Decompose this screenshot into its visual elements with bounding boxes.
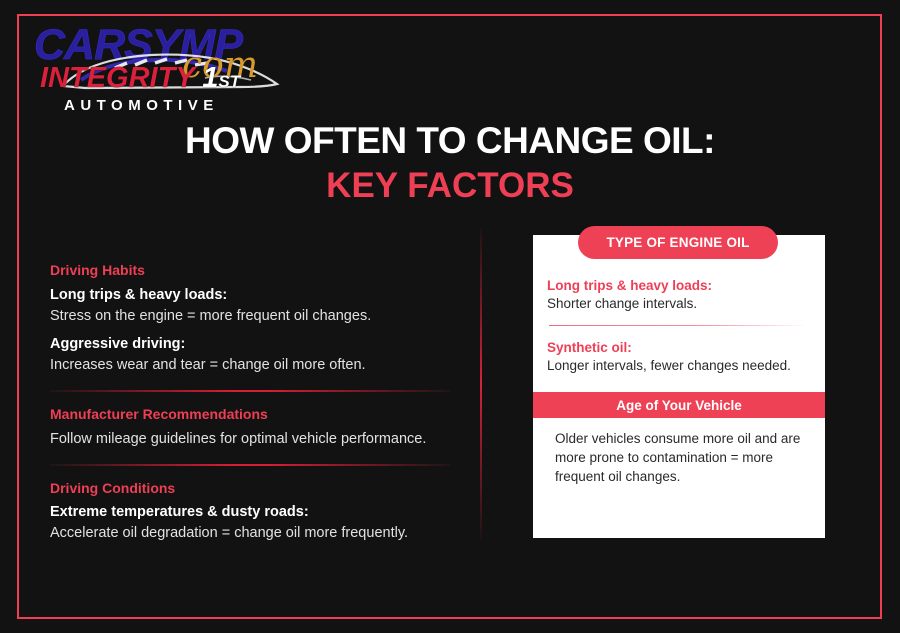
section-driving-habits: Driving Habits Long trips & heavy loads:… (50, 262, 450, 376)
card-divider (549, 325, 805, 326)
section-manufacturer-recommendations: Manufacturer Recommendations Follow mile… (50, 406, 450, 450)
logo-ordinal-number: 1 (202, 62, 218, 94)
headline-subtitle: KEY FACTORS (0, 168, 900, 205)
logo-company-text: INTEGRITY 1ST (40, 64, 240, 93)
column-divider (480, 228, 482, 540)
headline-main: HOW OFTEN TO CHANGE OIL: (0, 122, 900, 161)
item-label: Long trips & heavy loads: (50, 285, 450, 306)
card-entry-heading: Long trips & heavy loads: (547, 277, 811, 295)
card-entry-heading: Synthetic oil: (547, 339, 811, 357)
logo-ordinal: 1ST (194, 62, 240, 94)
left-content-column: Driving Habits Long trips & heavy loads:… (50, 262, 450, 552)
section-heading: Driving Habits (50, 262, 450, 279)
item-label: Aggressive driving: (50, 334, 450, 355)
page-title: HOW OFTEN TO CHANGE OIL: KEY FACTORS (0, 122, 900, 205)
item-label: Extreme temperatures & dusty roads: (50, 502, 450, 523)
brand-logo: CARSYMP com INTEGRITY 1ST AUTOMOTIVE (30, 24, 285, 106)
item-text: Follow mileage guidelines for optimal ve… (50, 429, 450, 450)
logo-ordinal-suffix: ST (218, 72, 240, 91)
section-heading: Driving Conditions (50, 480, 450, 497)
section-driving-conditions: Driving Conditions Extreme temperatures … (50, 480, 450, 545)
age-of-vehicle-band: Age of Your Vehicle (533, 392, 825, 418)
item-text: Stress on the engine = more frequent oil… (50, 306, 450, 327)
type-of-engine-oil-badge: TYPE OF ENGINE OIL (578, 226, 778, 259)
section-heading: Manufacturer Recommendations (50, 406, 450, 423)
infographic-poster: CARSYMP com INTEGRITY 1ST AUTOMOTIVE HOW… (0, 0, 900, 633)
age-of-vehicle-text: Older vehicles consume more oil and are … (555, 430, 803, 487)
section-divider (50, 390, 450, 392)
card-entry-text: Shorter change intervals. (547, 295, 811, 314)
section-divider (50, 464, 450, 466)
engine-oil-card: Long trips & heavy loads: Shorter change… (533, 235, 825, 538)
logo-company-word: INTEGRITY (40, 62, 194, 94)
card-entry-text: Longer intervals, fewer changes needed. (547, 357, 811, 376)
logo-tagline: AUTOMOTIVE (64, 98, 219, 113)
item-text: Increases wear and tear = change oil mor… (50, 355, 450, 376)
item-text: Accelerate oil degradation = change oil … (50, 523, 450, 544)
